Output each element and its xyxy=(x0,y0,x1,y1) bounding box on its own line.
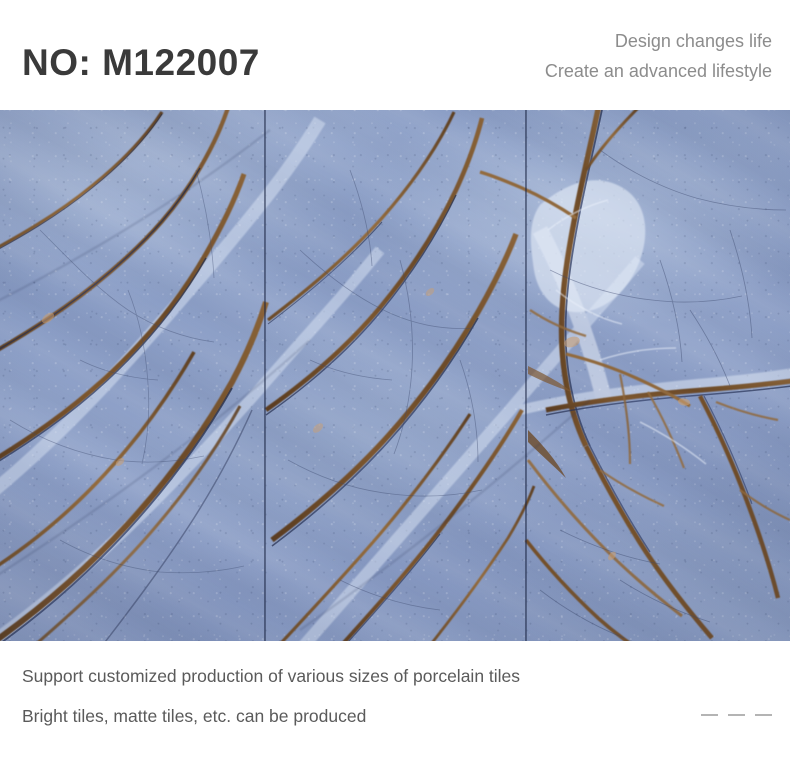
product-card: NO: M122007 Design changes life Create a… xyxy=(0,0,790,762)
panel-seam-1 xyxy=(264,110,266,641)
card-header: NO: M122007 Design changes life Create a… xyxy=(0,0,790,110)
product-number: NO: M122007 xyxy=(22,44,260,81)
panel-seam-2 xyxy=(525,110,527,641)
dash-marks xyxy=(701,714,772,716)
card-footer: Support customized production of various… xyxy=(0,641,790,762)
dash-mark-1 xyxy=(701,714,718,716)
dash-mark-2 xyxy=(728,714,745,716)
footer-line-finishes: Bright tiles, matte tiles, etc. can be p… xyxy=(22,706,366,727)
tagline-secondary: Create an advanced lifestyle xyxy=(545,56,772,86)
tagline-primary: Design changes life xyxy=(545,26,772,56)
marble-slab-image xyxy=(0,110,790,641)
tagline-group: Design changes life Create an advanced l… xyxy=(545,26,772,86)
footer-line-customization: Support customized production of various… xyxy=(22,666,520,687)
dash-mark-3 xyxy=(755,714,772,716)
marble-vignette xyxy=(0,110,790,641)
